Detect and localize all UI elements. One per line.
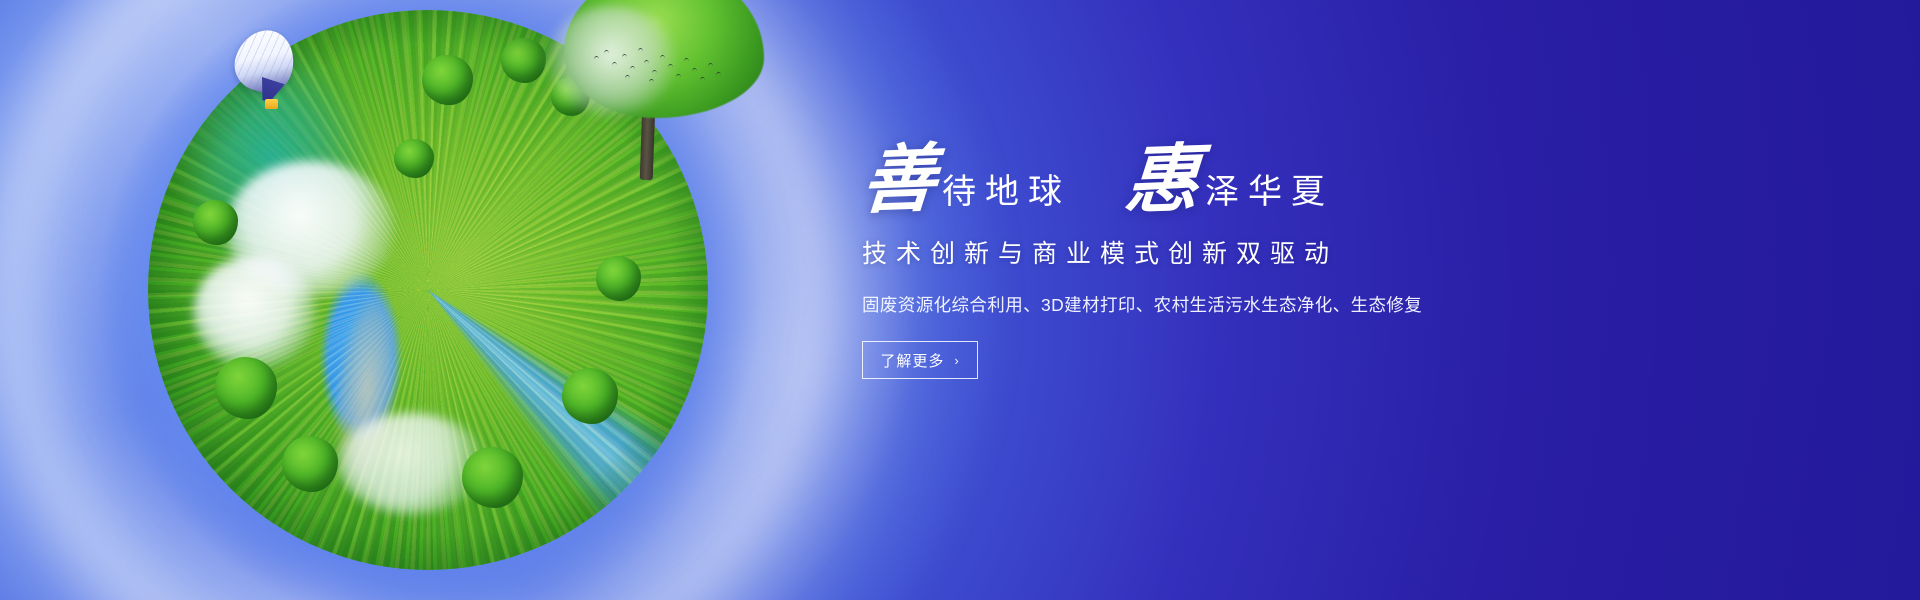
chevron-right-icon: › (954, 353, 959, 368)
hot-air-balloon (236, 30, 296, 126)
hero-banner: 善 待地球 惠 泽华夏 技术创新与商业模式创新双驱动 固废资源化综合利用、3D建… (0, 0, 1920, 600)
description-text: 固废资源化综合利用、3D建材打印、农村生活污水生态净化、生态修复 (862, 292, 1562, 317)
headline-brush-char-1: 善 (859, 143, 938, 220)
learn-more-label: 了解更多 (880, 350, 944, 371)
headline-regular-2: 泽华夏 (1205, 176, 1334, 218)
hero-text-block: 善 待地球 惠 泽华夏 技术创新与商业模式创新双驱动 固废资源化综合利用、3D建… (862, 132, 1562, 379)
headline-brush-char-2: 惠 (1122, 143, 1201, 220)
learn-more-button[interactable]: 了解更多 › (862, 341, 978, 379)
balloon-basket (265, 99, 278, 109)
headline-regular-1: 待地球 (942, 176, 1071, 218)
subheading: 技术创新与商业模式创新双驱动 (862, 234, 1562, 270)
large-tree (546, 2, 786, 182)
headline: 善 待地球 惠 泽华夏 (862, 132, 1562, 218)
bird-flock (592, 46, 722, 92)
